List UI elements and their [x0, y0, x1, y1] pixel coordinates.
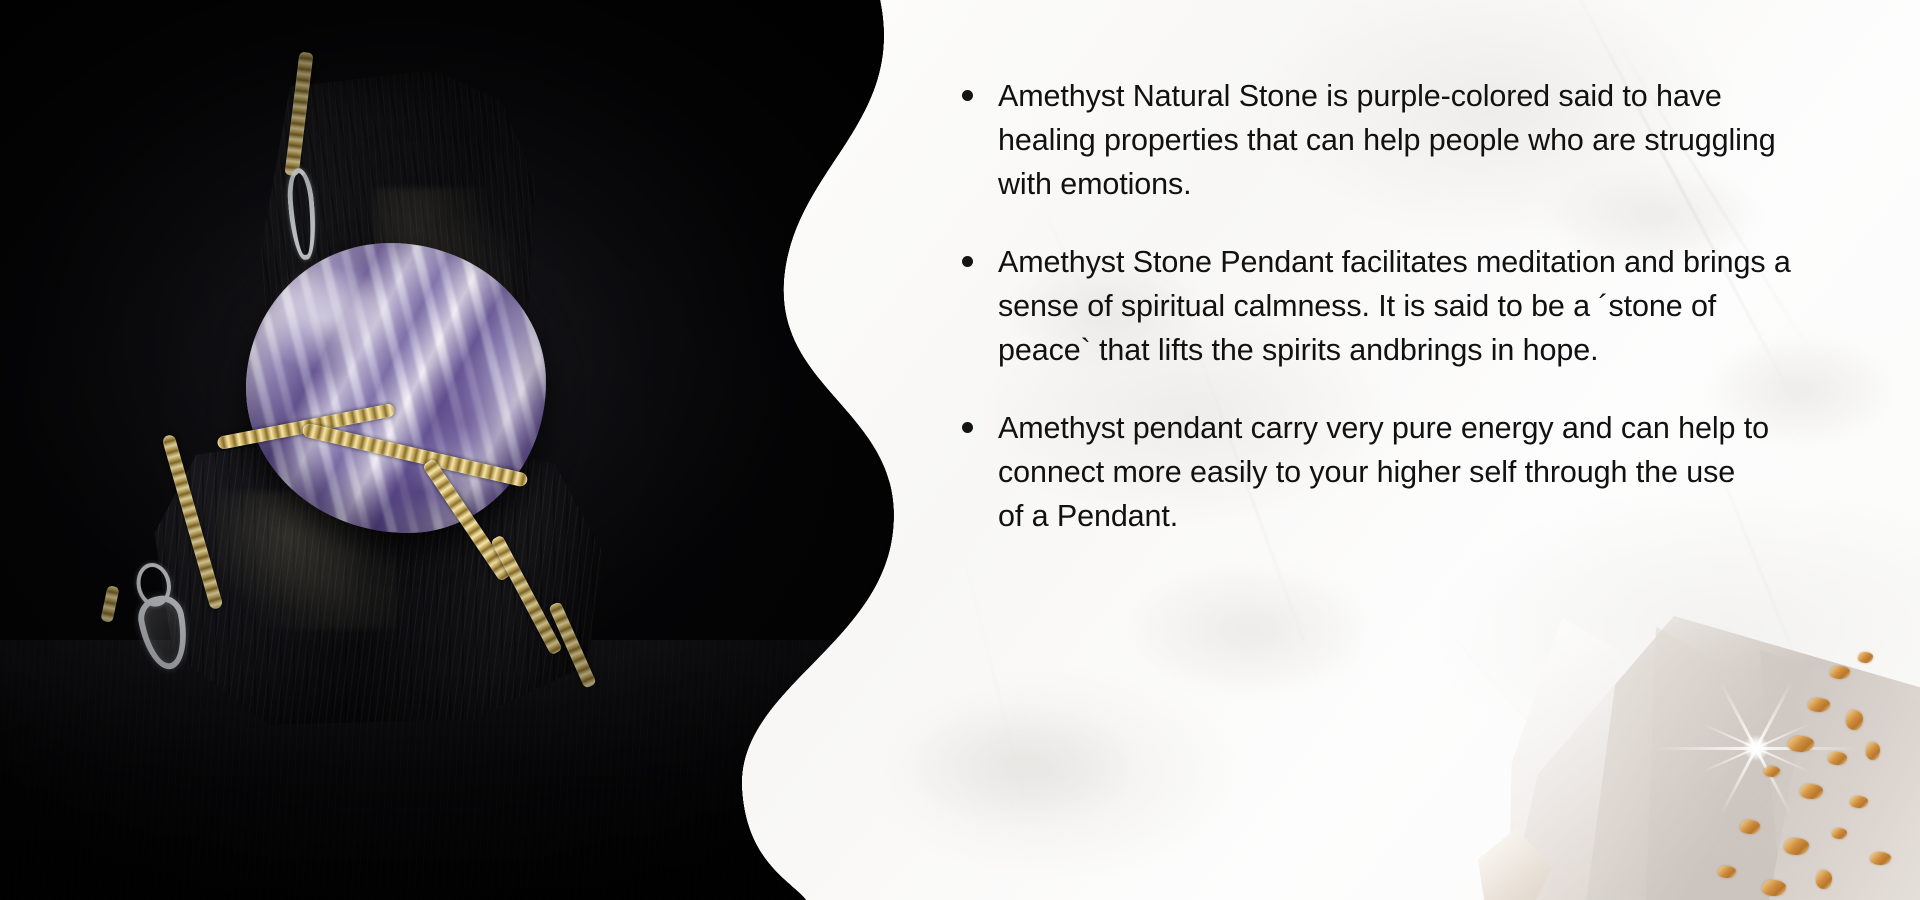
list-item: Amethyst Stone Pendant facilitates medit…	[960, 240, 1890, 372]
amethyst-pendant-stone	[246, 243, 546, 533]
list-item: Amethyst Natural Stone is purple-colored…	[960, 74, 1890, 206]
product-info-banner: Amethyst Natural Stone is purple-colored…	[0, 0, 1920, 900]
bullet-list: Amethyst Natural Stone is purple-colored…	[960, 74, 1890, 538]
bullet-text: Amethyst Stone Pendant facilitates medit…	[998, 240, 1890, 372]
list-item: Amethyst pendant carry very pure energy …	[960, 406, 1890, 538]
bullet-dot-icon	[962, 256, 973, 267]
bullet-text: Amethyst Natural Stone is purple-colored…	[998, 74, 1890, 206]
gold-flake	[1858, 652, 1873, 663]
bullet-dot-icon	[962, 422, 973, 433]
marble-smudge	[900, 700, 1140, 830]
crystal-decoration	[1360, 570, 1920, 900]
marble-smudge	[1120, 560, 1380, 700]
bullet-dot-icon	[962, 90, 973, 101]
bullet-text: Amethyst pendant carry very pure energy …	[998, 406, 1890, 538]
marble-vein	[959, 540, 1033, 831]
